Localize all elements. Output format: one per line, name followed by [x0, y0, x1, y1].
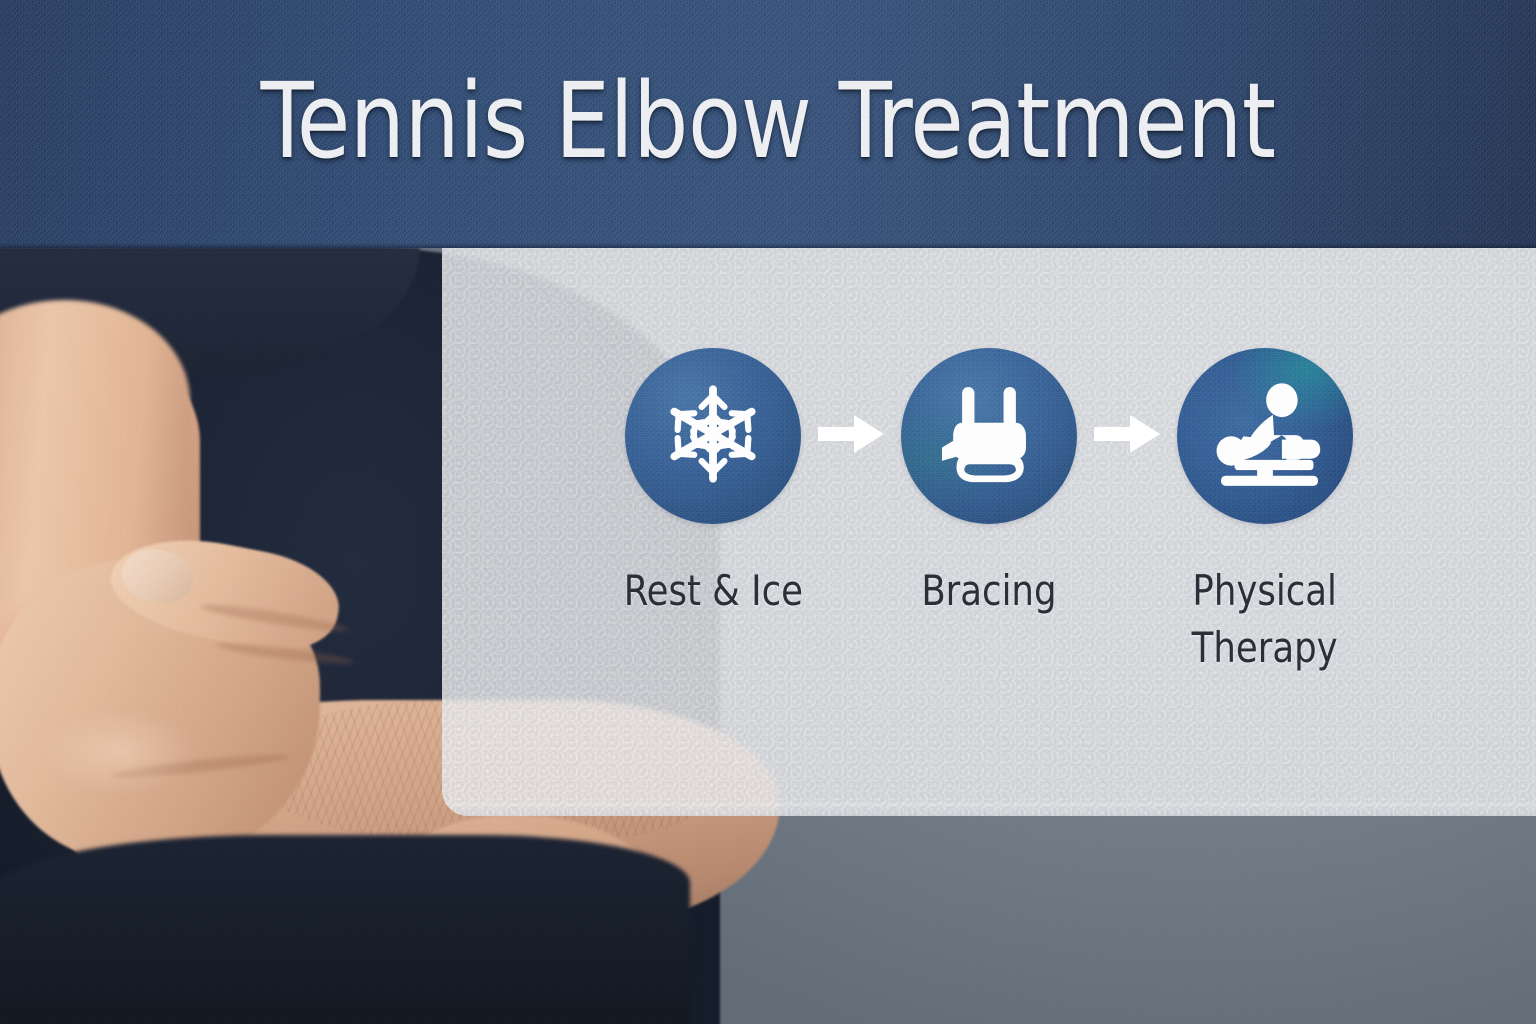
step-physical-therapy[interactable]: Physical Therapy — [1149, 348, 1381, 676]
physical-therapy-icon — [1203, 372, 1327, 501]
step-label: Physical Therapy — [1192, 562, 1338, 676]
treatment-steps: Rest & Ice — [442, 348, 1536, 676]
knuckles-highlight — [30, 700, 250, 830]
step-bracing[interactable]: Bracing — [873, 348, 1105, 619]
step-icon-circle — [1177, 348, 1353, 524]
snowflake-icon — [661, 382, 765, 491]
page-title: Tennis Elbow Treatment — [54, 0, 1482, 248]
step-icon-circle — [625, 348, 801, 524]
elbow-brace-icon — [933, 378, 1045, 495]
treatment-panel: Rest & Ice — [442, 248, 1536, 816]
step-label: Bracing — [921, 562, 1056, 619]
infographic-stage: Tennis Elbow Treatment — [0, 0, 1536, 1024]
step-label: Rest & Ice — [623, 562, 802, 619]
navy-shirt-lower — [0, 835, 690, 1024]
header-band: Tennis Elbow Treatment — [0, 0, 1536, 248]
step-rest-and-ice[interactable]: Rest & Ice — [597, 348, 829, 619]
step-icon-circle — [901, 348, 1077, 524]
